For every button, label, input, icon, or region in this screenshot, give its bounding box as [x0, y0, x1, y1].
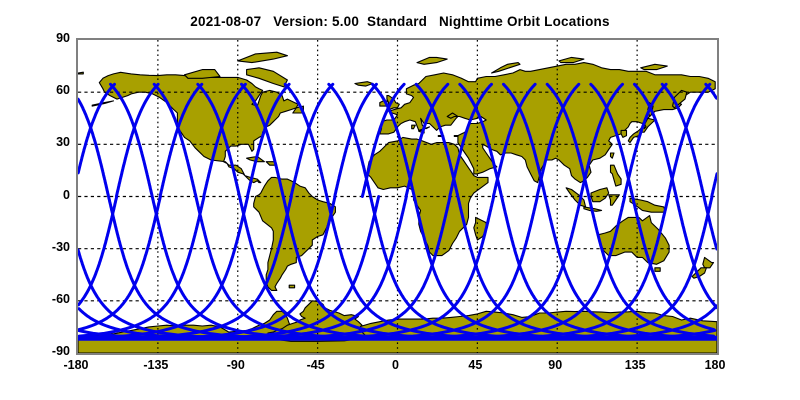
landmass-iceland [355, 82, 373, 86]
y-tick--30: -30 [52, 241, 70, 254]
landmass-severnaya [559, 57, 584, 62]
landmass-sardinia [412, 125, 416, 129]
x-tick--135: -135 [126, 359, 186, 372]
landmass-southamerica [254, 177, 336, 290]
landmass-layer [78, 52, 717, 353]
orbit-track-8 [78, 84, 114, 173]
landmass-philippines [611, 165, 622, 186]
landmass-taiwan [611, 153, 615, 158]
orbit-track-8 [712, 174, 717, 197]
map-canvas [78, 40, 717, 353]
y-tick-90: 90 [56, 32, 70, 45]
x-tick--90: -90 [206, 359, 266, 372]
x-tick-90: 90 [525, 359, 585, 372]
landmass-tasmania [655, 268, 660, 272]
landmass-korea [621, 130, 626, 137]
landmass-wrangel [78, 72, 83, 74]
landmass-falkland [289, 285, 294, 288]
y-axis-tick-labels: 9060300-30-60-90 [8, 0, 70, 400]
landmass-cyprus [454, 136, 458, 137]
y-tick--60: -60 [52, 293, 70, 306]
y-tick-30: 30 [56, 136, 70, 149]
y-tick-60: 60 [56, 84, 70, 97]
orbit-track-9 [79, 197, 160, 330]
y-tick-0: 0 [63, 189, 70, 202]
x-tick--180: -180 [46, 359, 106, 372]
landmass-borneo [591, 188, 609, 202]
landmass-newsiberian [641, 64, 668, 69]
landmass-victoria [185, 70, 221, 79]
x-tick-0: 0 [366, 359, 426, 372]
landmass-newzealand_n [703, 257, 714, 267]
landmass-svalbard [417, 57, 447, 64]
orbit-map-figure: 2021-08-07 Version: 5.00 Standard Nightt… [0, 0, 800, 400]
x-tick-180: 180 [685, 359, 745, 372]
landmass-ellesmere [238, 52, 288, 62]
x-tick--45: -45 [286, 359, 346, 372]
x-tick-135: 135 [605, 359, 665, 372]
figure-title: 2021-08-07 Version: 5.00 Standard Nightt… [0, 14, 800, 29]
x-axis-tick-labels: -180-135-90-4504590135180 [0, 359, 800, 379]
map-plot-area [76, 38, 719, 355]
x-tick-45: 45 [445, 359, 505, 372]
y-tick--90: -90 [52, 345, 70, 358]
